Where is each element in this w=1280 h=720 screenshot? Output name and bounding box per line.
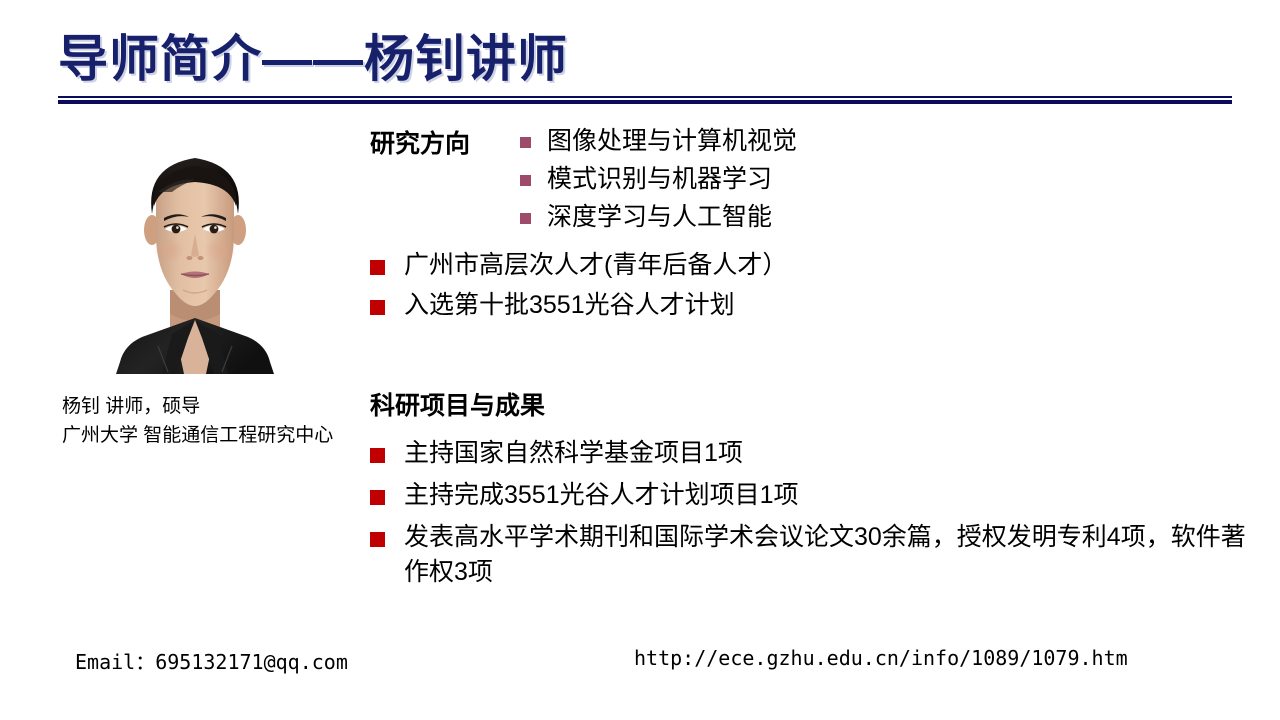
projects-section: 科研项目与成果 主持国家自然科学基金项目1项 主持完成3551光谷人才计划项目1… (370, 390, 1250, 597)
list-item: 入选第十批3551光谷人才计划 (370, 288, 1250, 322)
divider-thick-line (58, 100, 1232, 104)
list-item: 发表高水平学术期刊和国际学术会议论文30余篇，授权发明专利4项，软件著作权3项 (370, 520, 1250, 590)
project-text: 主持国家自然科学基金项目1项 (404, 436, 743, 471)
slide-title-block: 导师简介——杨钊讲师 (58, 28, 1238, 100)
square-bullet-icon (520, 175, 531, 186)
research-heading-row: 研究方向 图像处理与计算机视觉 模式识别与机器学习 深度学习与人工智能 (370, 126, 1250, 240)
honor-text: 入选第十批3551光谷人才计划 (404, 288, 735, 322)
list-item: 广州市高层次人才(青年后备人才） (370, 248, 1250, 282)
research-heading: 研究方向 (370, 126, 520, 160)
list-item: 图像处理与计算机视觉 (520, 126, 1250, 157)
project-text: 主持完成3551光谷人才计划项目1项 (404, 478, 799, 513)
research-direction-text: 模式识别与机器学习 (547, 164, 772, 195)
list-item: 主持国家自然科学基金项目1项 (370, 436, 1250, 471)
square-bullet-icon (370, 448, 385, 463)
honor-text: 广州市高层次人才(青年后备人才） (404, 248, 787, 282)
square-bullet-icon (370, 532, 385, 547)
square-bullet-icon (370, 490, 385, 505)
project-text: 发表高水平学术期刊和国际学术会议论文30余篇，授权发明专利4项，软件著作权3项 (404, 520, 1250, 590)
list-item: 深度学习与人工智能 (520, 202, 1250, 233)
square-bullet-icon (370, 260, 385, 275)
square-bullet-icon (520, 213, 531, 224)
portrait-photo-frame (98, 122, 292, 374)
contact-email: Email：695132171@qq.com (75, 646, 348, 675)
slide-footer: Email：695132171@qq.com http://ece.gzhu.e… (0, 640, 1280, 684)
square-bullet-icon (370, 300, 385, 315)
research-direction-text: 深度学习与人工智能 (547, 202, 772, 233)
photo-caption: 杨钊 讲师，硕导 广州大学 智能通信工程研究中心 (62, 392, 352, 450)
title-divider (58, 96, 1232, 105)
portrait-photo (98, 122, 292, 374)
projects-heading: 科研项目与成果 (370, 390, 1250, 422)
projects-list: 主持国家自然科学基金项目1项 主持完成3551光谷人才计划项目1项 发表高水平学… (370, 436, 1250, 590)
page-title: 导师简介——杨钊讲师 (58, 28, 1238, 90)
list-item: 主持完成3551光谷人才计划项目1项 (370, 478, 1250, 513)
caption-name-title: 杨钊 讲师，硕导 (62, 392, 352, 421)
research-direction-text: 图像处理与计算机视觉 (547, 126, 797, 157)
honors-list: 广州市高层次人才(青年后备人才） 入选第十批3551光谷人才计划 (370, 248, 1250, 322)
research-section: 研究方向 图像处理与计算机视觉 模式识别与机器学习 深度学习与人工智能 (370, 126, 1250, 328)
square-bullet-icon (520, 137, 531, 148)
list-item: 模式识别与机器学习 (520, 164, 1250, 195)
caption-affiliation: 广州大学 智能通信工程研究中心 (62, 421, 352, 450)
homepage-url[interactable]: http://ece.gzhu.edu.cn/info/1089/1079.ht… (634, 646, 1128, 670)
research-direction-list: 图像处理与计算机视觉 模式识别与机器学习 深度学习与人工智能 (520, 126, 1250, 240)
slide-canvas: 导师简介——杨钊讲师 (0, 0, 1280, 720)
